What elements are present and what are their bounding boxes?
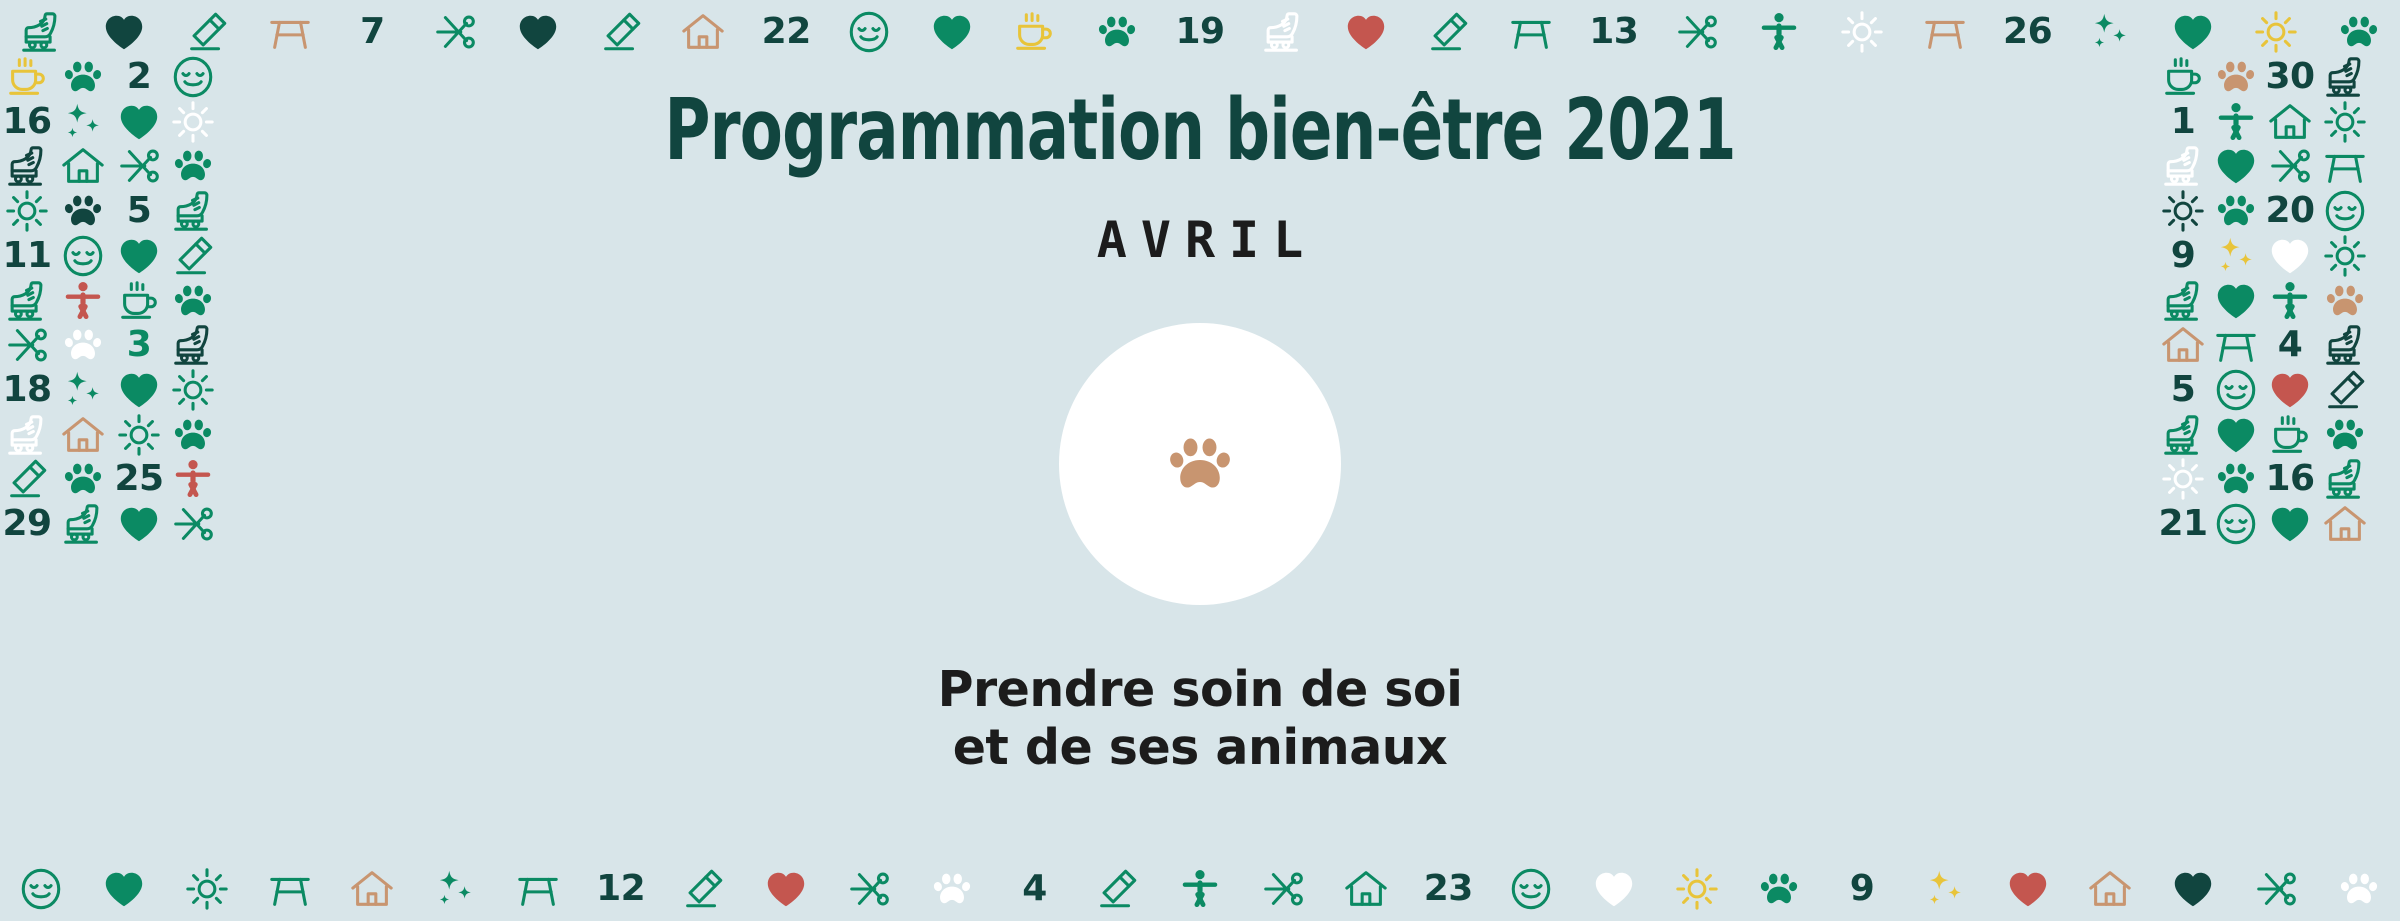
- paw-icon: [1747, 857, 1811, 921]
- highlighter-icon: [671, 857, 735, 921]
- heart-icon: [754, 857, 818, 921]
- house-icon: [2313, 492, 2377, 556]
- highlighter-icon: [589, 0, 653, 64]
- sun-icon: [175, 857, 239, 921]
- scissors-icon: [2244, 857, 2308, 921]
- heart-icon: [2161, 857, 2225, 921]
- calendar-day-number: 7: [340, 0, 404, 64]
- paw-icon: [2327, 857, 2391, 921]
- day-number-text: 22: [762, 14, 811, 50]
- paw-icon: [1162, 426, 1238, 502]
- day-number-text: 7: [360, 14, 385, 50]
- house-icon: [2078, 857, 2142, 921]
- sparkles-icon: [2078, 0, 2142, 64]
- scissors-icon: [1251, 857, 1315, 921]
- scissors-icon: [1665, 0, 1729, 64]
- heart-icon: [1996, 857, 2060, 921]
- day-number-text: 26: [2003, 14, 2052, 50]
- day-number-text: 12: [596, 871, 645, 907]
- calendar-day-number: 4: [1002, 857, 1066, 921]
- skate-icon: [51, 492, 115, 556]
- coffee-icon: [1002, 0, 1066, 64]
- hero-disc: [1059, 323, 1341, 605]
- picnic-table-icon: [1913, 0, 1977, 64]
- day-number-text: 19: [1175, 14, 1224, 50]
- house-icon: [671, 0, 735, 64]
- tagline-line-1: Prendre soin de soi: [938, 661, 1463, 719]
- poster-canvas: 7221913261242392165113182529301209451621…: [0, 0, 2400, 920]
- sparkles-icon: [423, 857, 487, 921]
- day-number-text: 21: [2158, 506, 2207, 542]
- calendar-day-number: 12: [589, 857, 653, 921]
- scissors-icon: [837, 857, 901, 921]
- day-number-text: 4: [1022, 871, 1047, 907]
- calendar-day-number: 26: [1996, 0, 2060, 64]
- calendar-day-number: 23: [1416, 857, 1480, 921]
- heart-icon: [1582, 857, 1646, 921]
- month-label: AVRIL: [1083, 215, 1318, 265]
- day-number-text: 9: [1850, 871, 1875, 907]
- heart-icon: [1334, 0, 1398, 64]
- paw-icon: [920, 857, 984, 921]
- day-number-text: 23: [1424, 871, 1473, 907]
- day-number-text: 13: [1589, 14, 1638, 50]
- highlighter-icon: [1085, 857, 1149, 921]
- calendar-day-number: 19: [1168, 0, 1232, 64]
- day-number-text: 29: [2, 506, 51, 542]
- sun-icon: [1830, 0, 1894, 64]
- paw-icon: [1085, 0, 1149, 64]
- heart-icon: [920, 0, 984, 64]
- smiley-icon: [837, 0, 901, 64]
- tagline-line-2: et de ses animaux: [938, 719, 1463, 777]
- smiley-icon: [1499, 857, 1563, 921]
- scissors-icon: [423, 0, 487, 64]
- tagline: Prendre soin de soi et de ses animaux: [938, 661, 1463, 777]
- sun-icon: [1665, 857, 1729, 921]
- calendar-day-number: 9: [1830, 857, 1894, 921]
- picnic-table-icon: [506, 857, 570, 921]
- highlighter-icon: [1416, 0, 1480, 64]
- page-title: Programmation bien-être 2021: [664, 88, 1735, 173]
- heart-icon: [506, 0, 570, 64]
- calendar-day-number: 22: [754, 0, 818, 64]
- center-content: Programmation bien-être 2021 AVRIL Prend…: [530, 0, 1870, 920]
- scissors-icon: [161, 492, 225, 556]
- picnic-table-icon: [258, 857, 322, 921]
- picnic-table-icon: [258, 0, 322, 64]
- heart-icon: [92, 857, 156, 921]
- picnic-table-icon: [1499, 0, 1563, 64]
- skate-icon: [1251, 0, 1315, 64]
- smiley-icon: [9, 857, 73, 921]
- house-icon: [340, 857, 404, 921]
- sparkles-icon: [1913, 857, 1977, 921]
- calendar-day-number: 13: [1582, 0, 1646, 64]
- house-icon: [1334, 857, 1398, 921]
- person-icon: [1168, 857, 1232, 921]
- person-icon: [1747, 0, 1811, 64]
